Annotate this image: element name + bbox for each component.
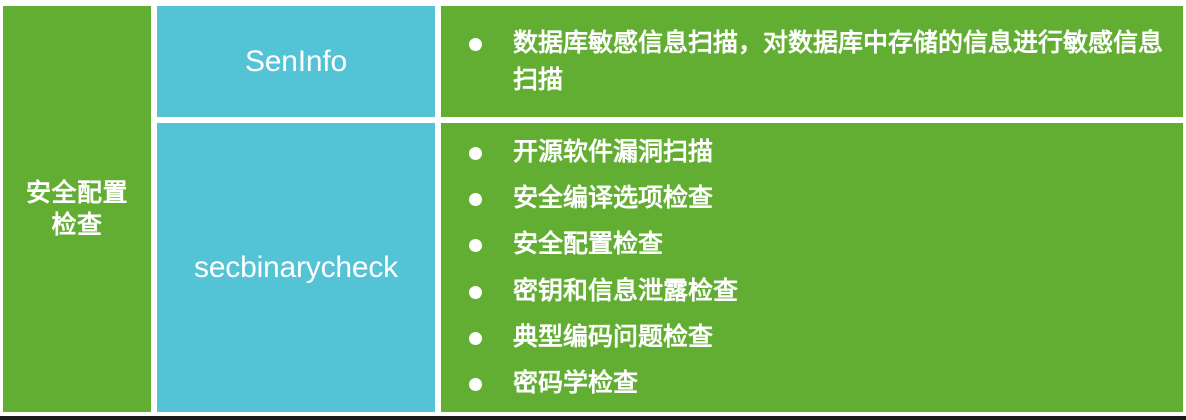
bullet-list-secbinarycheck: 开源软件漏洞扫描 安全编译选项检查 安全配置检查 密钥和信息泄露检查 典型编码问…: [441, 134, 1183, 402]
tool-cell-secbinarycheck: secbinarycheck: [154, 120, 438, 415]
bullet-dot-icon: [469, 38, 482, 51]
tool-name-seninfo: SenInfo: [245, 44, 347, 80]
bullet-dot-icon: [469, 332, 482, 345]
list-item: 数据库敏感信息扫描，对数据库中存储的信息进行敏感信息扫描: [455, 25, 1169, 98]
bullet-text: 安全编译选项检查: [513, 180, 1169, 216]
description-cell-seninfo: 数据库敏感信息扫描，对数据库中存储的信息进行敏感信息扫描: [438, 3, 1186, 120]
list-item: 安全配置检查: [455, 226, 1169, 262]
bullet-text: 密钥和信息泄露检查: [513, 273, 1169, 309]
bullet-list-seninfo: 数据库敏感信息扫描，对数据库中存储的信息进行敏感信息扫描: [441, 25, 1183, 98]
tool-cell-seninfo: SenInfo: [154, 3, 438, 120]
bottom-divider: [0, 416, 1186, 420]
bullet-dot-icon: [469, 239, 482, 252]
bullet-dot-icon: [469, 193, 482, 206]
bullet-text: 开源软件漏洞扫描: [513, 134, 1169, 170]
bullet-text: 密码学检查: [513, 365, 1169, 401]
table-grid: 安全配置检查 SenInfo 数据库敏感信息扫描，对数据库中存储的信息进行敏感信…: [0, 3, 1186, 415]
bullet-dot-icon: [469, 286, 482, 299]
list-item: 密钥和信息泄露检查: [455, 273, 1169, 309]
bullet-text: 数据库敏感信息扫描，对数据库中存储的信息进行敏感信息扫描: [513, 25, 1169, 98]
list-item: 安全编译选项检查: [455, 180, 1169, 216]
bullet-dot-icon: [469, 147, 482, 160]
tool-name-secbinarycheck: secbinarycheck: [194, 250, 398, 286]
bullet-text: 典型编码问题检查: [513, 319, 1169, 355]
list-item: 开源软件漏洞扫描: [455, 134, 1169, 170]
capability-table: 安全配置检查 SenInfo 数据库敏感信息扫描，对数据库中存储的信息进行敏感信…: [0, 0, 1186, 420]
bullet-dot-icon: [469, 378, 482, 391]
description-cell-secbinarycheck: 开源软件漏洞扫描 安全编译选项检查 安全配置检查 密钥和信息泄露检查 典型编码问…: [438, 120, 1186, 415]
category-cell: 安全配置检查: [0, 3, 154, 415]
list-item: 典型编码问题检查: [455, 319, 1169, 355]
category-label: 安全配置检查: [17, 177, 137, 241]
bullet-text: 安全配置检查: [513, 226, 1169, 262]
list-item: 密码学检查: [455, 365, 1169, 401]
